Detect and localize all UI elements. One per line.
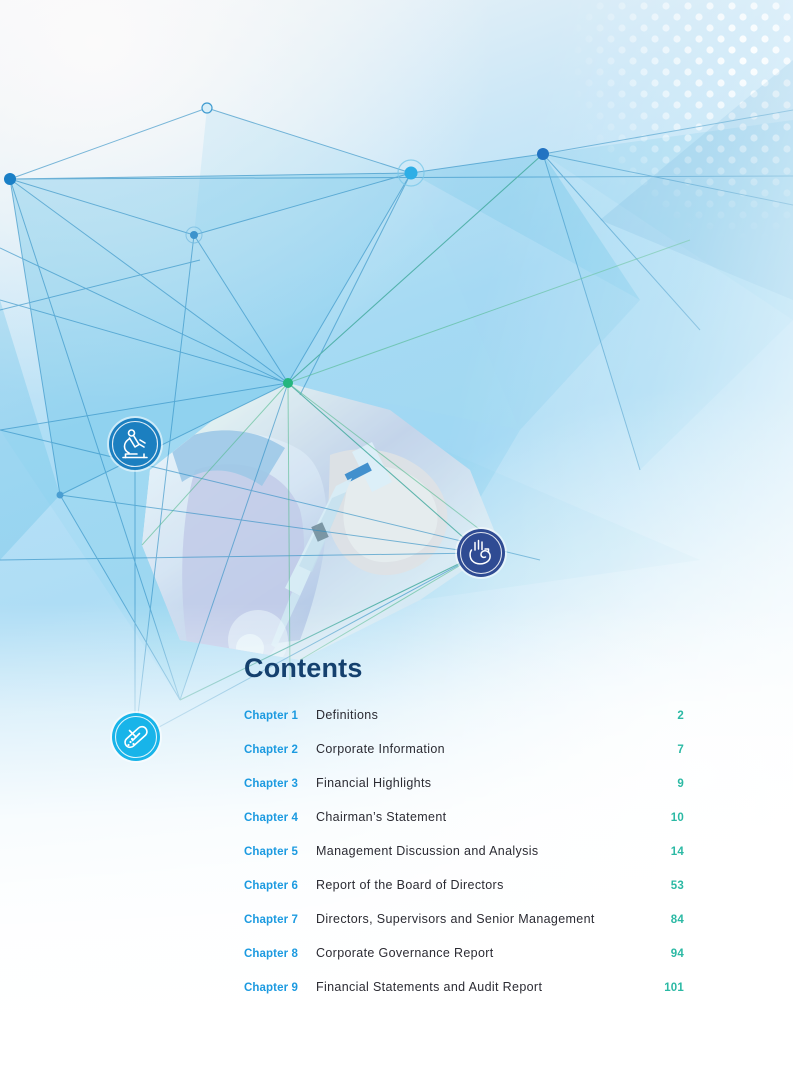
toc-chapter-label: Chapter 9 — [244, 982, 316, 994]
toc-page-number: 10 — [638, 812, 684, 824]
toc-page-number: 14 — [638, 846, 684, 858]
toc-page-number: 9 — [638, 778, 684, 790]
toc-row[interactable]: Chapter 1Definitions2 — [244, 708, 684, 742]
toc-chapter-label: Chapter 7 — [244, 914, 316, 926]
table-of-contents: Contents Chapter 1Definitions2Chapter 2C… — [244, 655, 684, 1014]
toc-entry-title: Chairman’s Statement — [316, 810, 638, 824]
toc-row[interactable]: Chapter 4Chairman’s Statement10 — [244, 810, 684, 844]
toc-row[interactable]: Chapter 3Financial Highlights9 — [244, 776, 684, 810]
microscope-badge — [109, 418, 161, 470]
toc-row[interactable]: Chapter 5Management Discussion and Analy… — [244, 844, 684, 878]
capsule-pill-badge — [112, 713, 160, 761]
hand-care-icon — [457, 529, 505, 577]
toc-row[interactable]: Chapter 2Corporate Information7 — [244, 742, 684, 776]
toc-chapter-label: Chapter 8 — [244, 948, 316, 960]
toc-row[interactable]: Chapter 6Report of the Board of Director… — [244, 878, 684, 912]
microscope-icon — [109, 418, 161, 470]
toc-row[interactable]: Chapter 7Directors, Supervisors and Seni… — [244, 912, 684, 946]
toc-entry-title: Definitions — [316, 708, 638, 722]
toc-list: Chapter 1Definitions2Chapter 2Corporate … — [244, 708, 684, 1014]
capsule-pill-icon — [112, 713, 160, 761]
toc-page-number: 94 — [638, 948, 684, 960]
hand-care-badge — [457, 529, 505, 577]
toc-entry-title: Financial Statements and Audit Report — [316, 980, 638, 994]
toc-page-number: 101 — [638, 982, 684, 994]
toc-entry-title: Directors, Supervisors and Senior Manage… — [316, 912, 638, 926]
toc-page-number: 84 — [638, 914, 684, 926]
toc-row[interactable]: Chapter 9Financial Statements and Audit … — [244, 980, 684, 1014]
toc-chapter-label: Chapter 1 — [244, 710, 316, 722]
toc-entry-title: Corporate Governance Report — [316, 946, 638, 960]
annual-report-contents-page: Contents Chapter 1Definitions2Chapter 2C… — [0, 0, 793, 1077]
toc-entry-title: Report of the Board of Directors — [316, 878, 638, 892]
toc-page-number: 7 — [638, 744, 684, 756]
toc-chapter-label: Chapter 2 — [244, 744, 316, 756]
toc-chapter-label: Chapter 4 — [244, 812, 316, 824]
page-title: Contents — [244, 655, 684, 682]
toc-entry-title: Corporate Information — [316, 742, 638, 756]
toc-chapter-label: Chapter 3 — [244, 778, 316, 790]
toc-row[interactable]: Chapter 8Corporate Governance Report94 — [244, 946, 684, 980]
toc-entry-title: Management Discussion and Analysis — [316, 844, 638, 858]
toc-entry-title: Financial Highlights — [316, 776, 638, 790]
toc-page-number: 2 — [638, 710, 684, 722]
toc-page-number: 53 — [638, 880, 684, 892]
toc-chapter-label: Chapter 5 — [244, 846, 316, 858]
toc-chapter-label: Chapter 6 — [244, 880, 316, 892]
